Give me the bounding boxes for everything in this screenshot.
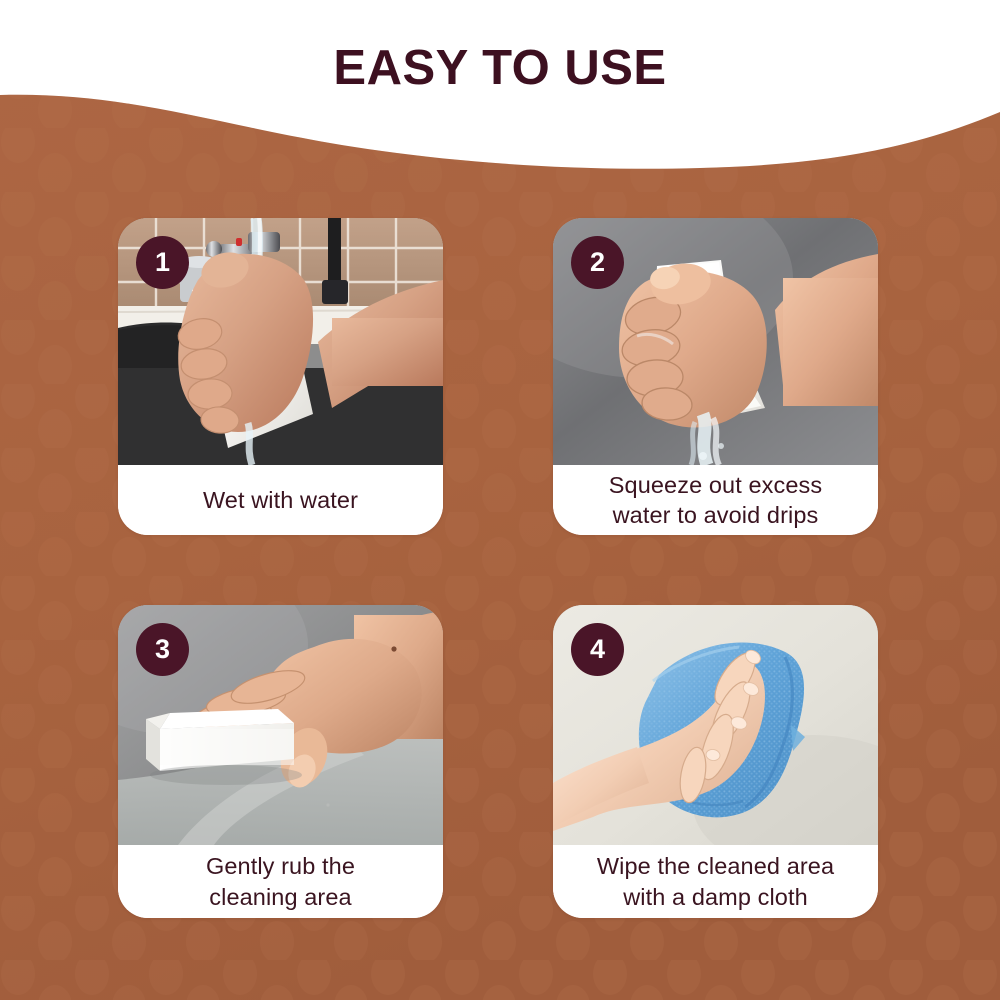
caption-line: Wet with water <box>203 485 358 515</box>
step-caption-3: Gently rub the cleaning area <box>118 845 443 918</box>
step-photo-2: 2 <box>553 218 878 465</box>
step-card-2[interactable]: 2 Squeeze out excess water to avoid drip… <box>553 218 878 535</box>
caption-line: cleaning area <box>206 882 355 912</box>
caption-line: Gently rub the <box>206 851 355 881</box>
step-badge-1: 1 <box>136 236 189 289</box>
caption-line: Wipe the cleaned area <box>597 851 834 881</box>
step-card-3[interactable]: 3 Gently rub the cleaning area <box>118 605 443 918</box>
step-caption-2: Squeeze out excess water to avoid drips <box>553 465 878 535</box>
infographic-canvas: EASY TO USE <box>0 0 1000 1000</box>
step-photo-1: 1 <box>118 218 443 465</box>
step-card-4[interactable]: 4 Wipe the cleaned area with a damp clot… <box>553 605 878 918</box>
step-number-4: 4 <box>590 636 605 663</box>
page-title: EASY TO USE <box>0 44 1000 93</box>
step-photo-4: 4 <box>553 605 878 845</box>
step-badge-4: 4 <box>571 623 624 676</box>
caption-line: with a damp cloth <box>597 882 834 912</box>
step-number-1: 1 <box>155 249 170 276</box>
caption-line: water to avoid drips <box>609 500 822 530</box>
step-number-2: 2 <box>590 249 605 276</box>
caption-line: Squeeze out excess <box>609 470 822 500</box>
step-caption-4: Wipe the cleaned area with a damp cloth <box>553 845 878 918</box>
step-caption-1: Wet with water <box>118 465 443 535</box>
step-photo-3: 3 <box>118 605 443 845</box>
step-card-1[interactable]: 1 Wet with water <box>118 218 443 535</box>
header: EASY TO USE <box>0 0 1000 150</box>
step-badge-2: 2 <box>571 236 624 289</box>
step-badge-3: 3 <box>136 623 189 676</box>
step-number-3: 3 <box>155 636 170 663</box>
